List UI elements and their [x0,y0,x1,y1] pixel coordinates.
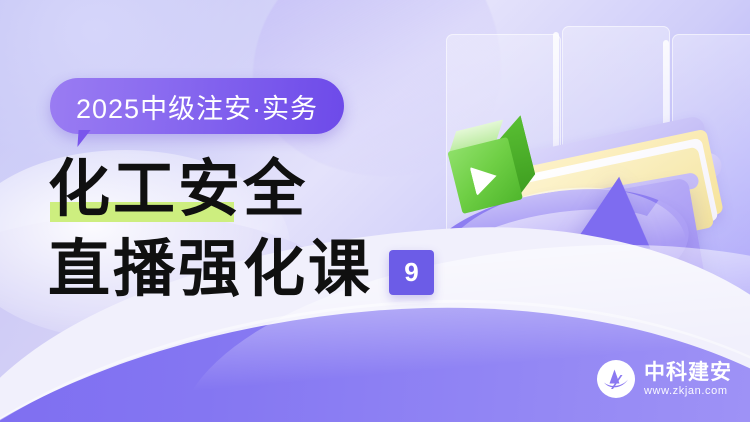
course-category-tag: 2025中级注安·实务 [50,78,344,134]
brand-website-url: www.zkjan.com [644,384,732,398]
title-line-1: 化工安全 [48,152,468,226]
course-promo-banner: 2025中级注安·实务 化工安全 直播强化课 9 中科建安 www.zkjan.… [0,0,750,422]
mountain-swoosh-logo-icon [597,360,635,398]
episode-number-badge: 9 [389,250,434,295]
page-subtitle: 直播强化课 [48,232,373,306]
course-category-tag-label: 2025中级注安·实务 [76,87,318,126]
brand-logo-text: 中科建安 www.zkjan.com [644,361,732,398]
banner-title-block: 化工安全 直播强化课 9 [48,152,468,306]
course-category-tag-tail [77,130,95,147]
brand-logo[interactable]: 中科建安 www.zkjan.com [597,360,732,398]
title-line-2: 直播强化课 9 [48,232,468,306]
page-title: 化工安全 [48,152,308,225]
brand-name: 中科建安 [644,361,732,384]
